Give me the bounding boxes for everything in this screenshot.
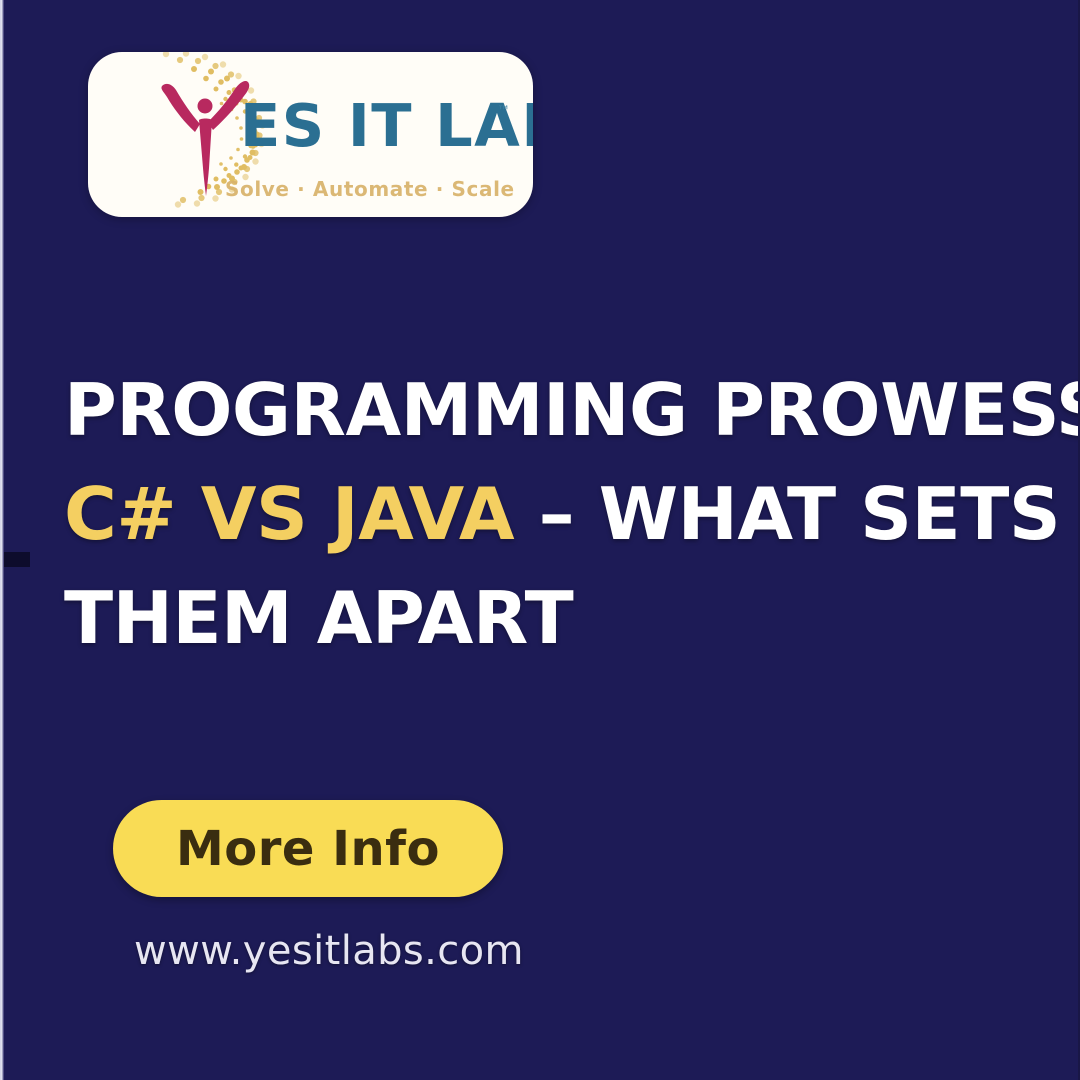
logo-lockup: ES IT LABS ™ Solve · Automate · Scale bbox=[88, 52, 533, 217]
social-media-poster: ES IT LABS ™ Solve · Automate · Scale PR… bbox=[0, 0, 1080, 1080]
headline-block: PROGRAMMING PROWESS C# VS JAVA – WHAT SE… bbox=[64, 358, 1080, 670]
edge-artifact-notch bbox=[4, 552, 30, 567]
headline-line-2-rest: – WHAT SETS bbox=[514, 472, 1060, 556]
logo-tagline: Solve · Automate · Scale bbox=[225, 177, 515, 201]
more-info-button[interactable]: More Info bbox=[113, 800, 503, 897]
more-info-button-label: More Info bbox=[176, 825, 440, 873]
headline-line-1: PROGRAMMING PROWESS bbox=[64, 358, 1080, 462]
logo-card[interactable]: ES IT LABS ™ Solve · Automate · Scale bbox=[88, 52, 533, 217]
trademark-symbol: ™ bbox=[497, 104, 510, 119]
website-url[interactable]: www.yesitlabs.com bbox=[134, 928, 524, 974]
headline-line-3: THEM APART bbox=[64, 566, 1080, 670]
headline-accent-text: C# VS JAVA bbox=[64, 472, 514, 556]
logo-wordmark: ES IT LABS bbox=[240, 96, 533, 155]
frame-edge-left bbox=[0, 0, 4, 1080]
headline-line-2: C# VS JAVA – WHAT SETS bbox=[64, 462, 1080, 566]
